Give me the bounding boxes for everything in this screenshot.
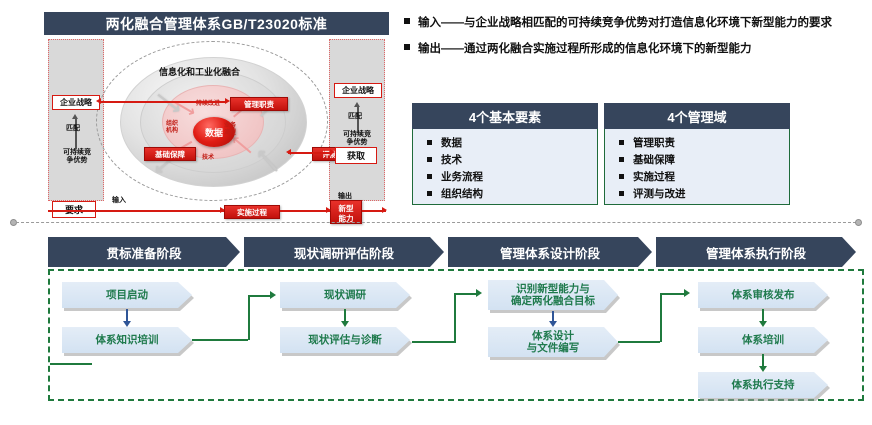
flow-link-c2-c3-arrowhead — [476, 289, 482, 297]
left-match-arrowhead — [72, 114, 78, 119]
panel-elements-body: 数据 技术 业务流程 组织结构 — [412, 129, 598, 205]
red-box-base: 基础保障 — [144, 147, 196, 161]
flow-box-identify-capability[interactable]: 识别新型能力与确定两化融合目标 — [488, 280, 618, 310]
panel-management-domains: 4个管理域 管理职责 基础保障 实施过程 评测与改进 — [604, 103, 790, 205]
label-advantage-left: 可持续竞争优势 — [56, 149, 98, 165]
list-item: 实施过程 — [619, 168, 789, 185]
bullet-text-output: 输出——通过两化融合实施过程所形成的信息化环境下的新型能力 — [418, 40, 752, 59]
label-acquire: 获取 — [335, 147, 377, 164]
phase-chevron-1[interactable]: 贯标准备阶段 — [48, 237, 240, 267]
label-output: 输出 — [338, 193, 352, 201]
arrow-to-acquire — [330, 149, 335, 155]
list-item-label: 组织结构 — [441, 186, 483, 201]
flow-link-c1-c2-arrowhead — [270, 291, 276, 299]
phase-chevron-3[interactable]: 管理体系设计阶段 — [448, 237, 652, 267]
label-enterprise-strategy-left: 企业战略 — [52, 95, 100, 110]
flow-link-c2-c3-h — [454, 293, 478, 295]
ring-label-tech: 技术 — [202, 155, 214, 162]
flow-box-status-research[interactable]: 现状调研 — [280, 282, 410, 308]
divider-handle-right[interactable] — [855, 219, 862, 226]
flow-link-c3-c4-h — [660, 293, 686, 295]
panel-domains-title: 4个管理域 — [604, 103, 790, 129]
flow-box-system-design[interactable]: 体系设计与文件编写 — [488, 327, 618, 357]
flow-link-c3-c4-h0 — [618, 341, 660, 343]
list-item-label: 业务流程 — [441, 169, 483, 184]
line-eval-to-acquire — [288, 152, 332, 154]
right-match-arrowhead — [354, 102, 360, 107]
flow-connector-arrowhead-c4-b — [759, 366, 767, 372]
bullet-square-icon — [619, 140, 624, 145]
red-box-implementation: 实施过程 — [224, 205, 280, 219]
list-item-label: 实施过程 — [633, 169, 675, 184]
list-item: 技术 — [427, 151, 597, 168]
flow-box-execution-support[interactable]: 体系执行支持 — [698, 372, 828, 398]
flow-connector-arrowhead-c1 — [123, 321, 131, 327]
bullet-square-icon — [427, 174, 432, 179]
flow-link-c1-c2-v — [248, 295, 250, 340]
bullet-text-input: 输入——与企业战略相匹配的可持续竞争优势对打造信息化环境下新型能力的要求 — [418, 14, 832, 33]
label-advantage-right: 可持续竞争优势 — [336, 131, 378, 147]
phase-chevron-4[interactable]: 管理体系执行阶段 — [656, 237, 856, 267]
arrow-to-implementation — [220, 207, 225, 213]
bullet-square-icon — [404, 44, 410, 50]
ring-label-org: 组织机构 — [166, 121, 178, 134]
process-flow-area: 项目启动 体系知识培训 现状调研 现状评估与诊断 识别新型能力与确定两化融合目标… — [48, 269, 864, 401]
bullet-square-icon — [619, 174, 624, 179]
flow-box-knowledge-training[interactable]: 体系知识培训 — [62, 327, 192, 353]
list-item-label: 技术 — [441, 152, 462, 167]
flow-link-c3-c4-v — [660, 293, 662, 342]
arrow-to-eval — [286, 149, 291, 155]
flow-connector-arrowhead-c3 — [549, 321, 557, 327]
flow-box-system-training[interactable]: 体系培训 — [698, 327, 828, 353]
phase-chevron-2[interactable]: 现状调研评估阶段 — [244, 237, 444, 267]
standard-diagram-card: 两化融合管理体系GB/T23020标准 信息化和工业化融合 ⟶ ⟶ ⟶ ⟶ ⟶ … — [44, 12, 389, 207]
flow-connector-arrowhead-c4-a — [759, 321, 767, 327]
red-box-management: 管理职责 — [230, 97, 288, 111]
label-enterprise-strategy-right: 企业战略 — [334, 83, 382, 98]
divider-line — [16, 222, 856, 223]
list-item-label: 基础保障 — [633, 152, 675, 167]
list-item: 业务流程 — [427, 168, 597, 185]
bullet-square-icon — [619, 191, 624, 196]
label-match-right: 匹配 — [348, 113, 362, 121]
panel-basic-elements: 4个基本要素 数据 技术 业务流程 组织结构 — [412, 103, 598, 205]
bullet-square-icon — [427, 157, 432, 162]
panel-domains-body: 管理职责 基础保障 实施过程 评测与改进 — [604, 129, 790, 205]
arrow-to-output — [382, 207, 387, 213]
list-item-label: 数据 — [441, 135, 462, 150]
flow-link-c1-c2-h1 — [192, 339, 248, 341]
flow-box-project-start[interactable]: 项目启动 — [62, 282, 192, 308]
bullet-item-input: 输入——与企业战略相匹配的可持续竞争优势对打造信息化环境下新型能力的要求 — [404, 14, 864, 33]
arrow-to-strategy-left — [96, 98, 101, 104]
phase-chevron-row: 贯标准备阶段 现状调研评估阶段 管理体系设计阶段 管理体系执行阶段 — [48, 237, 864, 267]
flow-box-status-assessment[interactable]: 现状评估与诊断 — [280, 327, 410, 353]
list-item: 组织结构 — [427, 185, 597, 202]
label-match-left: 匹配 — [66, 125, 80, 133]
panel-elements-title: 4个基本要素 — [412, 103, 598, 129]
bullet-item-output: 输出——通过两化融合实施过程所形成的信息化环境下的新型能力 — [404, 40, 864, 59]
flow-link-c2-c3-stub — [50, 363, 92, 365]
flow-link-c3-c4-arrowhead — [684, 289, 690, 297]
flow-link-c2-c3-v — [454, 293, 456, 341]
line-requirement-to-implementation — [48, 210, 224, 212]
io-bullet-list: 输入——与企业战略相匹配的可持续竞争优势对打造信息化环境下新型能力的要求 输出—… — [404, 14, 864, 66]
list-item: 评测与改进 — [619, 185, 789, 202]
list-item-label: 管理职责 — [633, 135, 675, 150]
flow-link-c1-c2-h2 — [248, 295, 272, 297]
diagram-title: 两化融合管理体系GB/T23020标准 — [44, 12, 389, 35]
fusion-top-label: 信息化和工业化融合 — [159, 65, 240, 78]
line-strategy-to-management — [100, 101, 226, 103]
flow-connector-arrowhead-c2 — [341, 321, 349, 327]
flow-box-system-audit-release[interactable]: 体系审核发布 — [698, 282, 828, 308]
bullet-square-icon — [404, 18, 410, 24]
list-item: 数据 — [427, 134, 597, 151]
section-divider — [10, 219, 862, 226]
bullet-square-icon — [619, 157, 624, 162]
arrow-to-management — [225, 98, 230, 104]
left-match-line — [75, 119, 77, 149]
bullet-square-icon — [427, 140, 432, 145]
line-implementation-to-capability — [280, 210, 330, 212]
arrow-to-capability — [326, 207, 331, 213]
bullet-square-icon — [427, 191, 432, 196]
diagram-canvas: 信息化和工业化融合 ⟶ ⟶ ⟶ ⟶ ⟶ ⟶ ⟶ ⟶ 数据 持续改进 业务流程 技… — [44, 35, 389, 207]
flow-link-c2-c3-h0 — [412, 341, 456, 343]
list-item: 基础保障 — [619, 151, 789, 168]
label-input: 输入 — [112, 197, 126, 205]
ring-label-business: 业务流程 — [224, 123, 236, 136]
list-item-label: 评测与改进 — [633, 186, 686, 201]
list-item: 管理职责 — [619, 134, 789, 151]
